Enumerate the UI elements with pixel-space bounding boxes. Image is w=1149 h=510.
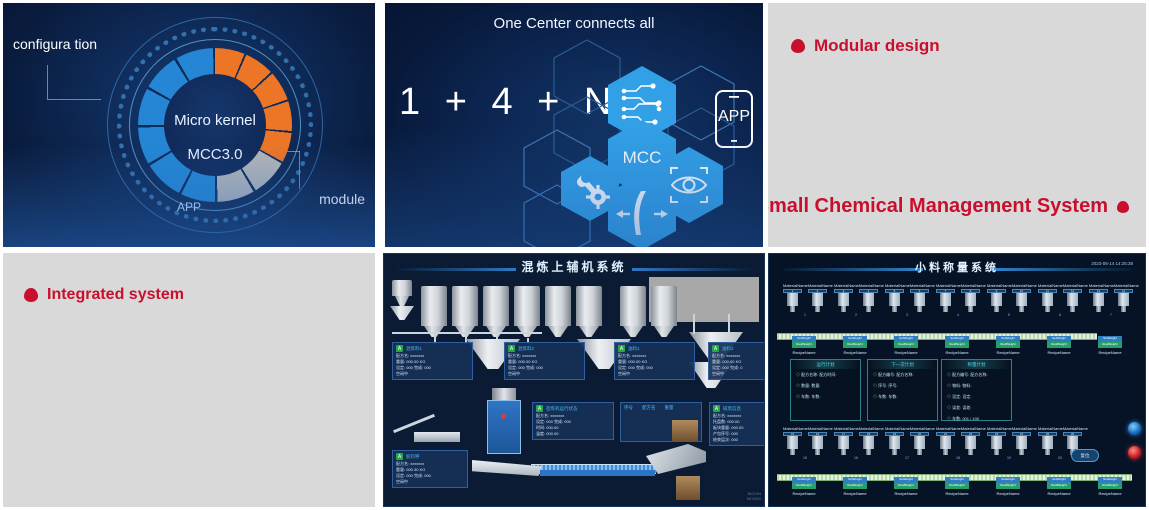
- unit-names: MaterialName MaterialName: [783, 283, 827, 288]
- vessel: 9: [987, 289, 1006, 312]
- weight-buttons[interactable]: SetWeight RealWeight: [945, 336, 969, 348]
- weigh-unit[interactable]: MaterialName MaterialName 19 20 17: [885, 426, 929, 460]
- unit-index: 1: [783, 313, 827, 317]
- vessel: 17: [834, 432, 853, 455]
- card-head: A 胶料秤: [396, 453, 464, 460]
- card-title: 油料2: [722, 346, 734, 352]
- discharge-chute-icon: [472, 460, 542, 476]
- weigh-unit[interactable]: MaterialName MaterialName 9 10 5: [987, 283, 1031, 317]
- vessel-index: 16: [808, 432, 827, 436]
- mixer-machine: [487, 400, 521, 454]
- info-panel-header: 称量计划: [942, 360, 1011, 369]
- material-label: MaterialName: [987, 283, 1012, 288]
- feeder-hopper: [390, 306, 414, 320]
- unit-vessels: 9 10: [987, 289, 1031, 312]
- info-panel-row: ◇ 物料: 物料:: [942, 380, 1011, 391]
- unit-index: 17: [885, 456, 929, 460]
- material-label: MaterialName: [859, 426, 884, 431]
- unit-index: 18: [936, 456, 980, 460]
- unit-vessels: 15 16: [783, 432, 827, 455]
- material-label: MaterialName: [910, 426, 935, 431]
- real-weight-button[interactable]: RealWeight: [1047, 342, 1071, 348]
- card-status-icon: A: [712, 345, 719, 352]
- vessel-index: 1: [783, 289, 802, 293]
- packing-line-icon: [540, 470, 655, 476]
- vessel: 13: [1089, 289, 1108, 312]
- real-weight-button[interactable]: RealWeight: [1098, 342, 1122, 348]
- bidirectional-arrow-icon[interactable]: [607, 173, 677, 247]
- log-header-row: 序号 配方名 重量: [624, 405, 698, 411]
- wrench-gear-icon[interactable]: [560, 155, 620, 222]
- weight-buttons[interactable]: SetWeight RealWeight: [1047, 336, 1071, 348]
- card-row: 温度: 000.00: [536, 431, 610, 437]
- real-weight-button[interactable]: RealWeight: [843, 342, 867, 348]
- caption-small-chemical: Small Chemical Management System: [768, 195, 1129, 218]
- unit-names: MaterialName MaterialName: [834, 426, 878, 431]
- vessel-index: 18: [859, 432, 878, 436]
- image-grid: configura tion module Micro kernel MCC3.…: [0, 0, 1149, 510]
- unit-names: MaterialName MaterialName: [987, 283, 1031, 288]
- card-row: 结束层次: 000: [713, 437, 765, 443]
- weigh-unit[interactable]: MaterialName MaterialName 11 12 6: [1038, 283, 1082, 317]
- feeder-unit: [392, 280, 412, 296]
- vessel: 5: [885, 289, 904, 312]
- donut-chart: Micro kernel MCC3.0: [138, 48, 292, 202]
- pipe: [728, 314, 730, 334]
- card-title: 油料1: [628, 346, 640, 352]
- vessel-index: 24: [1012, 432, 1031, 436]
- unit-names: MaterialName MaterialName: [987, 426, 1031, 431]
- info-panel-row: ◇ 数量: 数量:: [791, 380, 860, 391]
- hex-mcc-label: MCC: [607, 148, 677, 168]
- material-label: MaterialName: [834, 426, 859, 431]
- material-label: MaterialName: [961, 426, 986, 431]
- vessel-index: 19: [885, 432, 904, 436]
- info-panel-row: ◇ 配方编号: 配方名称:: [868, 369, 937, 380]
- real-weight-button[interactable]: RealWeight: [1047, 483, 1071, 489]
- bullet-modular-design-label: Modular design: [814, 36, 940, 56]
- leader-line-right-v: [299, 151, 300, 189]
- vessel-index: 3: [834, 289, 853, 293]
- status-red-indicator[interactable]: [1128, 446, 1141, 459]
- status-card-rubber[interactable]: A 胶料秤 配方名: xxxxxxx 重量: 000.30 KG 设定: 000…: [392, 450, 468, 488]
- weigh-unit[interactable]: MaterialName MaterialName 7 8 4: [936, 283, 980, 317]
- info-panel-row: ◇ 设定: 设定:: [942, 391, 1011, 402]
- weight-buttons[interactable]: SetWeight RealWeight: [996, 336, 1020, 348]
- unit-index: 6: [1038, 313, 1082, 317]
- material-label: MaterialName: [783, 283, 808, 288]
- donut-center: Micro kernel MCC3.0: [164, 74, 266, 176]
- unit-names: MaterialName MaterialName: [1089, 283, 1133, 288]
- hex-mcc[interactable]: MCC: [607, 119, 677, 197]
- recipe-name: RecipeName: [935, 491, 979, 496]
- silo: [452, 286, 478, 326]
- material-label: MaterialName: [1012, 283, 1037, 288]
- app-phone-icon[interactable]: APP: [710, 88, 758, 150]
- unit-index: 3: [885, 313, 929, 317]
- eye-scan-icon[interactable]: [654, 146, 724, 224]
- unit-vessels: 11 12: [1038, 289, 1082, 312]
- material-label: MaterialName: [1063, 283, 1088, 288]
- weigh-unit[interactable]: MaterialName MaterialName 21 22 18: [936, 426, 980, 460]
- card-title: 混炼料2: [518, 346, 534, 352]
- weight-buttons[interactable]: SetWeight RealWeight: [792, 477, 816, 489]
- vessel: 25: [1038, 432, 1057, 455]
- weight-buttons[interactable]: SetWeight RealWeight: [894, 477, 918, 489]
- vessel-index: 26: [1063, 432, 1082, 436]
- status-card[interactable]: A 油料1 配方名: xxxxxxx 重量: 000.00 KG 设定: 000…: [614, 342, 695, 380]
- real-weight-button[interactable]: RealWeight: [843, 483, 867, 489]
- panel-mixer-hmi: 混炼上辅机系统 A 混炼料1: [383, 253, 765, 507]
- unit-vessels: 7 8: [936, 289, 980, 312]
- unit-names: MaterialName MaterialName: [783, 426, 827, 431]
- unit-names: MaterialName MaterialName: [936, 283, 980, 288]
- info-panel-header: 下一次计划: [868, 360, 937, 369]
- card-head: A 油料2: [712, 345, 765, 352]
- weight-buttons[interactable]: SetWeight RealWeight: [792, 336, 816, 348]
- vessel-index: 15: [783, 432, 802, 436]
- silo: [651, 286, 677, 326]
- vessel-index: 17: [834, 432, 853, 436]
- material-label: MaterialName: [936, 426, 961, 431]
- label-module: module: [319, 191, 365, 207]
- info-panel-row: ◇ 配方名称: 配方时间:: [791, 369, 860, 380]
- vessel-index: 9: [987, 289, 1006, 293]
- vessel: 23: [987, 432, 1006, 455]
- recipe-name: RecipeName: [935, 350, 979, 355]
- weigh-unit[interactable]: MaterialName MaterialName 5 6 3: [885, 283, 929, 317]
- reset-button[interactable]: 复位: [1071, 449, 1099, 462]
- material-label: MaterialName: [936, 283, 961, 288]
- unit-vessels: 19 20: [885, 432, 929, 455]
- vessel-index: 14: [1114, 289, 1133, 293]
- info-panel-row: ◇ 误差: 误差:: [942, 402, 1011, 413]
- bullet-modular-design: Modular design: [791, 36, 940, 56]
- card-head: A 油料1: [618, 345, 691, 352]
- recipe-name: RecipeName: [986, 491, 1030, 496]
- vessel: 1: [783, 289, 802, 312]
- unit-vessels: 3 4: [834, 289, 878, 312]
- recipe-name: RecipeName: [1037, 350, 1081, 355]
- panel-architecture: configura tion module Micro kernel MCC3.…: [3, 3, 375, 247]
- bullet-integrated-system-label: Integrated system: [47, 286, 184, 304]
- silo: [576, 286, 602, 326]
- vessel-index: 12: [1063, 289, 1082, 293]
- vessel-index: 21: [936, 432, 955, 436]
- status-card-carbon[interactable]: A 碳黑信息 配方名: xxxxxxx 托盘数: 000.00 板块重量: 00…: [709, 402, 765, 446]
- material-label: MaterialName: [1063, 426, 1088, 431]
- card-row: 空闲中: [396, 371, 469, 377]
- vessel: 12: [1063, 289, 1082, 312]
- info-panel-current-plan[interactable]: 运行计划 ◇ 配方名称: 配方时间: ◇ 数量: 数量: ◇ 车数: 车数:: [790, 359, 861, 421]
- log-col-index: 序号: [624, 405, 633, 411]
- real-weight-button[interactable]: RealWeight: [792, 342, 816, 348]
- label-configuration: configura tion: [13, 36, 103, 54]
- weight-buttons[interactable]: SetWeight RealWeight: [1098, 477, 1122, 489]
- recipe-name: RecipeName: [1088, 491, 1132, 496]
- unit-names: MaterialName MaterialName: [1038, 283, 1082, 288]
- network-icon[interactable]: [607, 65, 677, 143]
- card-title: 密炼机运行状态: [546, 406, 578, 412]
- caption-dot-icon: [1117, 201, 1129, 213]
- unit-vessels: 21 22: [936, 432, 980, 455]
- unit-names: MaterialName MaterialName: [1038, 426, 1082, 431]
- weigh-unit[interactable]: MaterialName MaterialName 17 18 16: [834, 426, 878, 460]
- card-row: 空闲中: [508, 371, 581, 377]
- weigh-unit[interactable]: MaterialName MaterialName 23 24 19: [987, 426, 1031, 460]
- incline-conveyor: [393, 414, 435, 433]
- info-panel-row: ◇ 车数: 车数:: [868, 391, 937, 402]
- real-weight-button[interactable]: RealWeight: [792, 483, 816, 489]
- material-label: MaterialName: [808, 283, 833, 288]
- bullet-dot-icon: [791, 39, 805, 53]
- info-panel-row: ◇ 序号: 序号:: [868, 380, 937, 391]
- recipe-name: RecipeName: [986, 350, 1030, 355]
- weight-buttons[interactable]: SetWeight RealWeight: [1047, 477, 1071, 489]
- pallet-stack-icon: [676, 476, 700, 500]
- vessel: 11: [1038, 289, 1057, 312]
- silo: [545, 286, 571, 326]
- vessel-index: 10: [1012, 289, 1031, 293]
- mixer-title: 混炼上辅机系统: [384, 258, 764, 275]
- vessel-index: 6: [910, 289, 929, 293]
- info-panel-header: 运行计划: [791, 360, 860, 369]
- vessel-index: 4: [859, 289, 878, 293]
- info-panel-next-plan[interactable]: 下一次计划 ◇ 配方编号: 配方名称: ◇ 序号: 序号: ◇ 车数: 车数:: [867, 359, 938, 421]
- vessel-index: 13: [1089, 289, 1108, 293]
- unit-index: 5: [987, 313, 1031, 317]
- mixer-stack: [492, 388, 516, 400]
- leader-line-left-v: [47, 65, 48, 99]
- weighing-title: 小料称量系统: [769, 259, 1145, 275]
- card-row: 空闲中: [396, 479, 464, 485]
- mixer-indicator-icon: [501, 414, 506, 419]
- vessel-index: 7: [936, 289, 955, 293]
- watermark: BIGVIN MIXING: [747, 491, 761, 501]
- unit-index: 7: [1089, 313, 1133, 317]
- card-row: 空闲中: [712, 371, 765, 377]
- material-label: MaterialName: [1114, 283, 1139, 288]
- vessel: 3: [834, 289, 853, 312]
- card-title: 混炼料1: [406, 346, 422, 352]
- material-label: MaterialName: [783, 426, 808, 431]
- material-label: MaterialName: [834, 283, 859, 288]
- recipe-name: RecipeName: [884, 491, 928, 496]
- info-panel-weigh-plan[interactable]: 称量计划 ◇ 配方编号: 配方名称: ◇ 物料: 物料: ◇ 设定: 设定: ◇…: [941, 359, 1012, 421]
- robot-arm-icon: [646, 444, 706, 474]
- architecture-ring: Micro kernel MCC3.0: [107, 17, 323, 233]
- pallet-stack-icon: [672, 420, 698, 442]
- donut-label-kernel: Micro kernel: [164, 112, 266, 129]
- weight-buttons[interactable]: SetWeight RealWeight: [843, 336, 867, 348]
- unit-vessels: 23 24: [987, 432, 1031, 455]
- weigh-unit[interactable]: MaterialName MaterialName 1 2 1: [783, 283, 827, 317]
- leader-line-right-h: [277, 151, 300, 152]
- unit-index: 2: [834, 313, 878, 317]
- vessel: 4: [859, 289, 878, 312]
- silo: [620, 286, 646, 326]
- weight-buttons[interactable]: SetWeight RealWeight: [1098, 336, 1122, 348]
- real-weight-button[interactable]: RealWeight: [894, 483, 918, 489]
- vessel: 24: [1012, 432, 1031, 455]
- watermark-line2: MIXING: [747, 496, 761, 501]
- info-panel-row: ◇ 车数: 车数:: [791, 391, 860, 402]
- silo: [483, 286, 509, 326]
- hex-outline-3: [523, 129, 591, 205]
- material-label: MaterialName: [1038, 426, 1063, 431]
- panel-modular-design: Modular design Small Chemical Management…: [768, 3, 1146, 247]
- unit-names: MaterialName MaterialName: [834, 283, 878, 288]
- material-label: MaterialName: [987, 426, 1012, 431]
- bullet-dot-icon: [24, 288, 38, 302]
- material-label: MaterialName: [1038, 283, 1063, 288]
- vessel: 19: [885, 432, 904, 455]
- log-col-recipe: 配方名: [642, 405, 656, 411]
- unit-index: 15: [783, 456, 827, 460]
- status-card[interactable]: A 混炼料1 配方名: xxxxxxx 重量: 000.00 KG 设定: 00…: [392, 342, 473, 380]
- silo: [421, 286, 447, 326]
- card-head: A 密炼机运行状态: [536, 405, 610, 412]
- vessel: 22: [961, 432, 980, 455]
- panel-connectivity: One Center connects all 1 + 4 + N: [385, 3, 763, 247]
- card-title: 碳黑信息: [723, 406, 741, 412]
- recipe-name: RecipeName: [1037, 491, 1081, 496]
- card-status-icon: A: [508, 345, 515, 352]
- recipe-name: RecipeName: [833, 350, 877, 355]
- vessel: 7: [936, 289, 955, 312]
- vessel-index: 5: [885, 289, 904, 293]
- card-status-icon: A: [396, 345, 403, 352]
- weighing-timestamp: 2023-06-14 14:25:38: [1091, 261, 1133, 266]
- unit-vessels: 5 6: [885, 289, 929, 312]
- card-head: A 碳黑信息: [713, 405, 765, 412]
- card-row: 空闲中: [618, 371, 691, 377]
- vessel-index: 22: [961, 432, 980, 436]
- unit-names: MaterialName MaterialName: [936, 426, 980, 431]
- real-weight-button[interactable]: RealWeight: [894, 342, 918, 348]
- donut-label-version: MCC3.0: [164, 146, 266, 163]
- vessel-index: 8: [961, 289, 980, 293]
- vessel: 21: [936, 432, 955, 455]
- unit-vessels: 1 2: [783, 289, 827, 312]
- vessel: 16: [808, 432, 827, 455]
- unit-index: 4: [936, 313, 980, 317]
- status-card[interactable]: A 混炼料2 配方名: xxxxxxx 重量: 000.00 KG 设定: 00…: [504, 342, 585, 380]
- material-label: MaterialName: [808, 426, 833, 431]
- real-weight-button[interactable]: RealWeight: [996, 483, 1020, 489]
- card-status-icon: A: [618, 345, 625, 352]
- weigh-unit[interactable]: MaterialName MaterialName 3 4 2: [834, 283, 878, 317]
- connectivity-title: One Center connects all: [385, 15, 763, 32]
- card-status-icon: A: [536, 405, 543, 412]
- unit-names: MaterialName MaterialName: [885, 426, 929, 431]
- panel-weighing-hmi: 小料称量系统 2023-06-14 14:25:38 MaterialName …: [768, 253, 1146, 507]
- recipe-name: RecipeName: [1088, 350, 1132, 355]
- weight-buttons[interactable]: SetWeight RealWeight: [996, 477, 1020, 489]
- unit-index: 16: [834, 456, 878, 460]
- caption-small-chemical-label: Small Chemical Management System: [768, 195, 1108, 218]
- weigh-unit[interactable]: MaterialName MaterialName 13 14 7: [1089, 283, 1133, 317]
- unit-vessels: 17 18: [834, 432, 878, 455]
- card-head: A 混炼料1: [396, 345, 469, 352]
- card-status-icon: A: [713, 405, 720, 412]
- log-col-weight: 重量: [665, 405, 674, 411]
- vessel-index: 11: [1038, 289, 1057, 293]
- material-label: MaterialName: [1089, 283, 1114, 288]
- status-card[interactable]: A 油料2 配方名: xxxxxxx 重量: 000.00 KG 设定: 000…: [708, 342, 765, 380]
- material-label: MaterialName: [910, 283, 935, 288]
- real-weight-button[interactable]: RealWeight: [1098, 483, 1122, 489]
- vessel-index: 23: [987, 432, 1006, 436]
- vessel: 14: [1114, 289, 1133, 312]
- info-panel-row: ◇ 配方编号: 配方名称:: [942, 369, 1011, 380]
- unit-names: MaterialName MaterialName: [885, 283, 929, 288]
- vessel: 6: [910, 289, 929, 312]
- material-label: MaterialName: [859, 283, 884, 288]
- pipe: [693, 314, 695, 334]
- vessel-index: 25: [1038, 432, 1057, 436]
- unit-index: 19: [987, 456, 1031, 460]
- unit-vessels: 13 14: [1089, 289, 1133, 312]
- recipe-name: RecipeName: [833, 491, 877, 496]
- status-blue-indicator[interactable]: [1128, 422, 1141, 435]
- roller-table: [414, 432, 460, 442]
- vessel-index: 20: [910, 432, 929, 436]
- bullet-integrated-system: Integrated system: [24, 286, 184, 304]
- vessel: 2: [808, 289, 827, 312]
- real-weight-button[interactable]: RealWeight: [945, 483, 969, 489]
- card-head: A 混炼料2: [508, 345, 581, 352]
- real-weight-button[interactable]: RealWeight: [996, 342, 1020, 348]
- weigh-unit[interactable]: MaterialName MaterialName 15 16 15: [783, 426, 827, 460]
- app-label: APP: [710, 108, 758, 126]
- recipe-name: RecipeName: [782, 350, 826, 355]
- vessel: 20: [910, 432, 929, 455]
- label-app: APP: [3, 200, 375, 214]
- silo: [514, 286, 540, 326]
- card-title: 胶料秤: [406, 454, 420, 460]
- card-status-icon: A: [396, 453, 403, 460]
- info-panel-row: ◇ 车数: 001 / 100: [942, 413, 1011, 424]
- weight-buttons[interactable]: SetWeight RealWeight: [945, 477, 969, 489]
- material-label: MaterialName: [885, 426, 910, 431]
- hex-outline-4: [523, 184, 591, 247]
- recipe-name: RecipeName: [884, 350, 928, 355]
- weight-buttons[interactable]: SetWeight RealWeight: [894, 336, 918, 348]
- vessel: 10: [1012, 289, 1031, 312]
- leader-line-left-h: [47, 99, 101, 100]
- pipe: [392, 332, 542, 334]
- vessel: 15: [783, 432, 802, 455]
- material-label: MaterialName: [885, 283, 910, 288]
- status-card-mixer[interactable]: A 密炼机运行状态 配方名: xxxxxxx 设定: 000 完成: 000 时…: [532, 402, 614, 440]
- vessel-index: 2: [808, 289, 827, 293]
- real-weight-button[interactable]: RealWeight: [945, 342, 969, 348]
- material-label: MaterialName: [961, 283, 986, 288]
- weight-buttons[interactable]: SetWeight RealWeight: [843, 477, 867, 489]
- recipe-name: RecipeName: [782, 491, 826, 496]
- vessel: 18: [859, 432, 878, 455]
- panel-integrated-system: Integrated system Mixer Line Management …: [3, 253, 375, 507]
- material-label: MaterialName: [1012, 426, 1037, 431]
- vessel: 8: [961, 289, 980, 312]
